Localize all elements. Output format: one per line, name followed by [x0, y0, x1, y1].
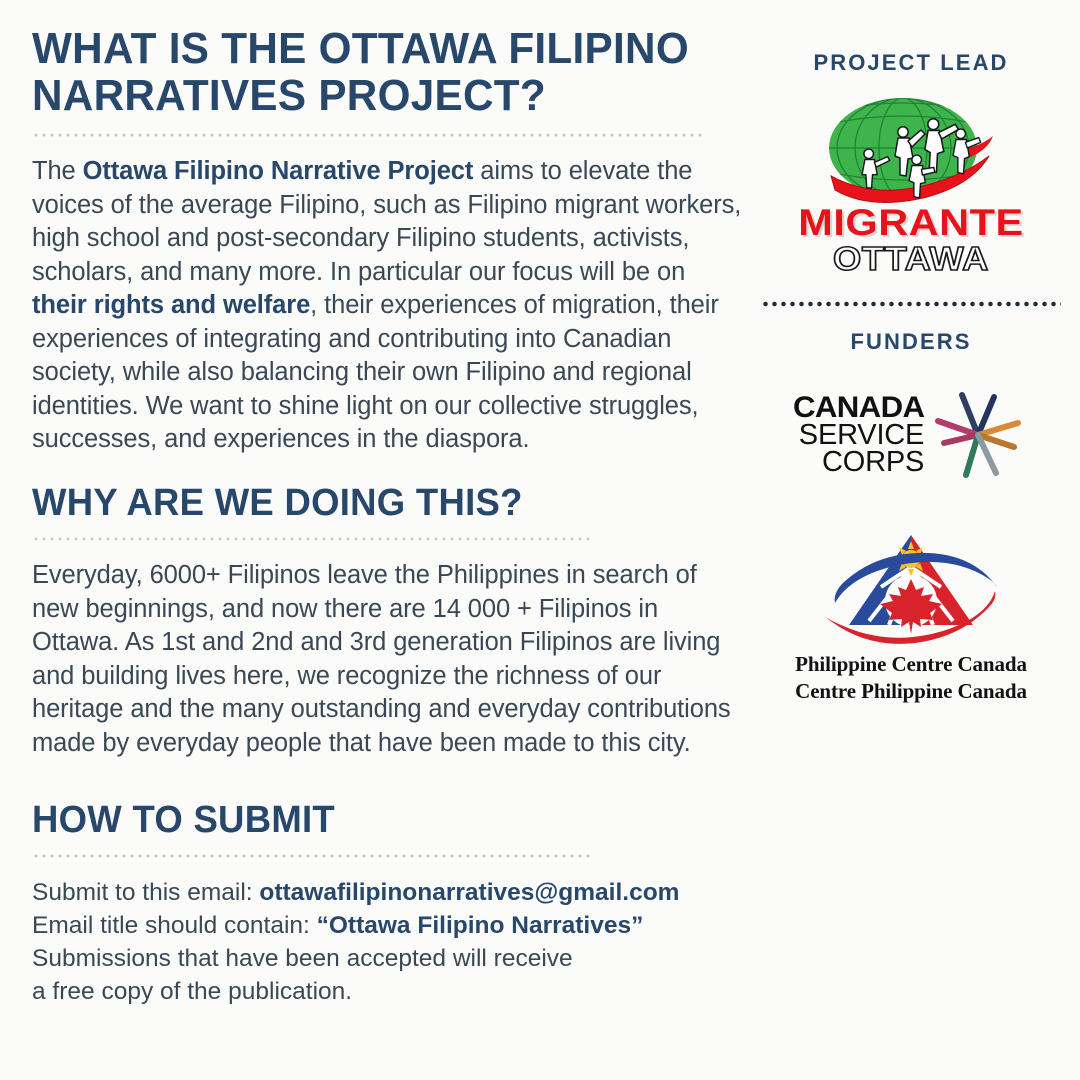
divider-dotted-2 — [32, 537, 592, 541]
why-paragraph: Everyday, 6000+ Filipinos leave the Phil… — [32, 559, 742, 760]
migrante-globe-icon — [811, 90, 1011, 210]
pcc-name-en: Philippine Centre Canada — [742, 652, 1080, 677]
left-content-column: WHAT IS THE OTTAWA FILIPINO NARRATIVES P… — [0, 0, 742, 1080]
submit-email-address[interactable]: ottawafilipinonarratives@gmail.com — [259, 879, 679, 906]
submit-email-prefix: Submit to this email: — [32, 879, 259, 906]
submit-title-line: Email title should contain: “Ottawa Fili… — [32, 909, 742, 942]
philippine-centre-canada-logo: Philippine Centre Canada Centre Philippi… — [742, 525, 1080, 704]
about-text-1: The — [32, 157, 83, 185]
migrante-emblem-wrap — [742, 90, 1080, 210]
submit-heading: HOW TO SUBMIT — [32, 800, 714, 840]
submit-title-prefix: Email title should contain: — [32, 912, 317, 939]
csc-line-corps: CORPS — [798, 449, 924, 476]
why-heading: WHY ARE WE DOING THIS? — [32, 483, 714, 523]
about-bold-rights-welfare: their rights and welfare — [32, 291, 310, 319]
about-bold-project-name: Ottawa Filipino Narrative Project — [83, 157, 474, 185]
migrante-ottawa-logo: MIGRANTE OTTAWA — [742, 90, 1080, 275]
divider-dotted-3 — [32, 854, 592, 858]
page-title: WHAT IS THE OTTAWA FILIPINO NARRATIVES P… — [32, 26, 714, 119]
submit-email-line: Submit to this email: ottawafilipinonarr… — [32, 876, 742, 909]
csc-starburst-icon — [932, 389, 1024, 481]
submit-note-line-2: a free copy of the publication. — [32, 975, 742, 1008]
submit-title-value: “Ottawa Filipino Narratives” — [317, 912, 644, 939]
funders-label: FUNDERS — [742, 329, 1080, 355]
migrante-wordmark: MIGRANTE — [722, 204, 1080, 241]
submit-note-line-1: Submissions that have been accepted will… — [32, 942, 742, 975]
csc-line-canada: CANADA — [793, 394, 924, 422]
pcc-emblem-wrap — [742, 525, 1080, 650]
right-logos-column: PROJECT LEAD — [742, 0, 1080, 1080]
csc-line-service: SERVICE — [798, 422, 924, 449]
infographic-page: WHAT IS THE OTTAWA FILIPINO NARRATIVES P… — [0, 0, 1080, 1080]
pcc-name-fr: Centre Philippine Canada — [742, 679, 1080, 704]
project-lead-label: PROJECT LEAD — [742, 50, 1080, 76]
divider-dotted-1 — [32, 133, 704, 137]
csc-wordmark: CANADA SERVICE CORPS — [798, 394, 924, 476]
pcc-emblem-icon — [811, 525, 1011, 650]
about-paragraph: The Ottawa Filipino Narrative Project ai… — [32, 155, 742, 457]
canada-service-corps-logo: CANADA SERVICE CORPS — [742, 389, 1080, 481]
migrante-ottawa-wordmark: OTTAWA — [725, 242, 1080, 275]
divider-dotted-right — [761, 301, 1061, 307]
